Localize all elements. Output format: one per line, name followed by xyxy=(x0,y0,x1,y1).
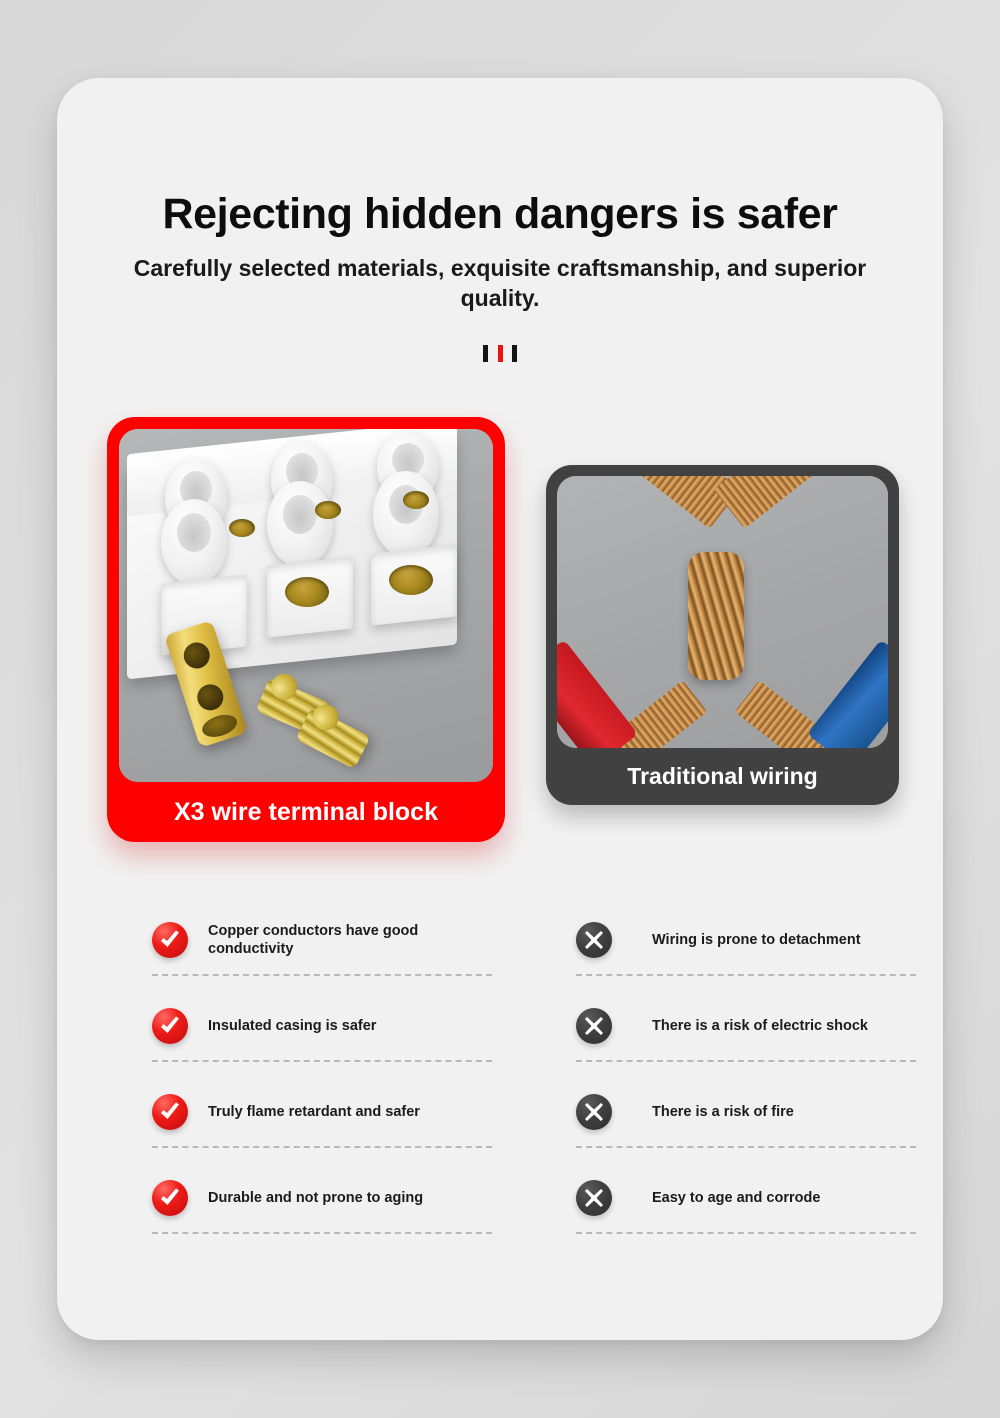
feature-label: There is a risk of electric shock xyxy=(652,1017,868,1035)
check-icon xyxy=(152,1180,188,1216)
barrel-hole xyxy=(180,639,213,672)
comparison-cards: X3 wire terminal block Traditional wirin… xyxy=(57,417,943,842)
x-icon xyxy=(576,1094,612,1130)
terminal-port xyxy=(373,471,439,557)
terminal-block-photo xyxy=(119,429,493,782)
feature-label: Truly flame retardant and safer xyxy=(208,1103,420,1121)
feature-label: Insulated casing is safer xyxy=(208,1017,376,1035)
twisted-wire-photo xyxy=(557,476,888,748)
row-separator xyxy=(576,1232,916,1234)
product-card-good[interactable]: X3 wire terminal block xyxy=(107,417,505,842)
check-icon xyxy=(152,1094,188,1130)
x-icon xyxy=(576,922,612,958)
brass-insert xyxy=(389,565,433,595)
check-icon xyxy=(152,1008,188,1044)
feature-list-bad: Wiring is prone to detachment There is a… xyxy=(576,890,916,1234)
check-icon xyxy=(152,922,188,958)
divider-bar-right xyxy=(512,345,517,362)
divider-marks xyxy=(483,345,517,362)
screw-hole xyxy=(229,519,255,537)
screw-hole xyxy=(315,501,341,519)
divider-bar-middle xyxy=(498,345,503,362)
feature-list-good: Copper conductors have good conductivity… xyxy=(152,890,492,1234)
divider-bar-left xyxy=(483,345,488,362)
twisted-wire-knot xyxy=(688,552,744,680)
brass-insert xyxy=(285,577,329,607)
product-card-good-label: X3 wire terminal block xyxy=(119,782,493,842)
feature-label: Copper conductors have good conductivity xyxy=(208,922,492,958)
terminal-port xyxy=(161,499,227,585)
header: Rejecting hidden dangers is safer Carefu… xyxy=(57,78,943,362)
screw-hole xyxy=(403,491,429,509)
feature-label: Durable and not prone to aging xyxy=(208,1189,423,1207)
product-card-bad[interactable]: Traditional wiring xyxy=(546,465,899,805)
x-icon xyxy=(576,1008,612,1044)
terminal-port xyxy=(267,481,333,567)
main-panel: Rejecting hidden dangers is safer Carefu… xyxy=(57,78,943,1340)
page-title: Rejecting hidden dangers is safer xyxy=(57,190,943,238)
product-card-bad-label: Traditional wiring xyxy=(557,748,888,805)
row-separator xyxy=(152,1232,492,1234)
barrel-hole xyxy=(194,681,227,714)
feature-label: Easy to age and corrode xyxy=(652,1189,820,1207)
feature-label: Wiring is prone to detachment xyxy=(652,931,861,949)
page-subtitle: Carefully selected materials, exquisite … xyxy=(57,254,943,313)
x-icon xyxy=(576,1180,612,1216)
feature-label: There is a risk of fire xyxy=(652,1103,794,1121)
